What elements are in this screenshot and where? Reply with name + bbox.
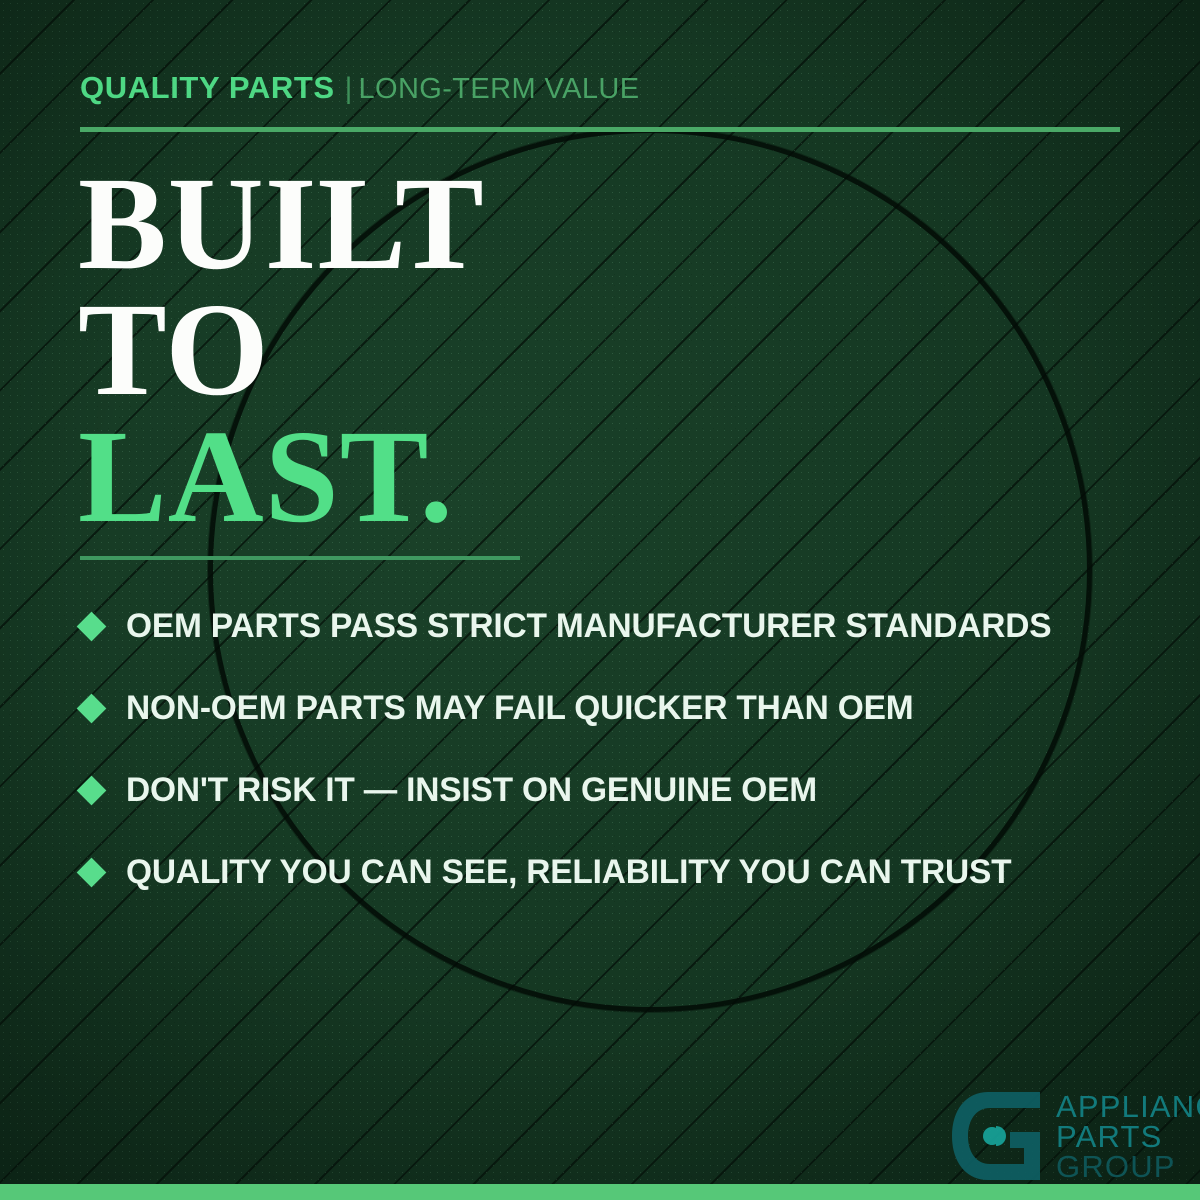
list-item-label: DON'T RISK IT — INSIST ON GENUINE OEM: [126, 771, 817, 810]
logo-wordmark: APPLIANCE PARTS GROUP: [1056, 1088, 1200, 1181]
headline-line-3: LAST.: [78, 413, 485, 539]
diamond-bullet-icon: [77, 857, 107, 887]
eyebrow-header: QUALITY PARTS|LONG-TERM VALUE: [80, 72, 639, 104]
brand-logo: APPLIANCE PARTS GROUP: [948, 1088, 1200, 1184]
list-item-label: NON-OEM PARTS MAY FAIL QUICKER THAN OEM: [126, 689, 913, 728]
bottom-accent-bar: [0, 1184, 1200, 1200]
headline-line-2: TO: [78, 286, 485, 412]
diamond-bullet-icon: [77, 693, 107, 723]
logo-g-mark-icon: [948, 1088, 1044, 1184]
poster-canvas: QUALITY PARTS|LONG-TERM VALUE BUILT TO L…: [0, 0, 1200, 1200]
page-title: BUILT TO LAST.: [78, 160, 485, 539]
list-item: NON-OEM PARTS MAY FAIL QUICKER THAN OEM: [78, 667, 1168, 749]
logo-word-parts: PARTS: [1056, 1122, 1200, 1152]
headline-line-1: BUILT: [78, 160, 485, 286]
list-item: OEM PARTS PASS STRICT MANUFACTURER STAND…: [78, 585, 1168, 667]
poster-content: QUALITY PARTS|LONG-TERM VALUE BUILT TO L…: [0, 0, 1200, 1200]
list-item: DON'T RISK IT — INSIST ON GENUINE OEM: [78, 749, 1168, 831]
header-divider-rule: [80, 127, 1120, 132]
eyebrow-separator: |: [345, 72, 353, 105]
eyebrow-sub-label: LONG-TERM VALUE: [358, 73, 639, 105]
list-item: QUALITY YOU CAN SEE, RELIABILITY YOU CAN…: [78, 831, 1168, 913]
benefits-list: OEM PARTS PASS STRICT MANUFACTURER STAND…: [78, 585, 1168, 913]
list-item-label: QUALITY YOU CAN SEE, RELIABILITY YOU CAN…: [126, 853, 1011, 892]
diamond-bullet-icon: [77, 611, 107, 641]
headline-divider-rule: [80, 556, 520, 560]
diamond-bullet-icon: [77, 775, 107, 805]
logo-word-appliance: APPLIANCE: [1056, 1092, 1200, 1122]
list-item-label: OEM PARTS PASS STRICT MANUFACTURER STAND…: [126, 607, 1051, 646]
logo-word-group: GROUP: [1056, 1152, 1200, 1182]
eyebrow-main-label: QUALITY PARTS: [80, 70, 335, 105]
